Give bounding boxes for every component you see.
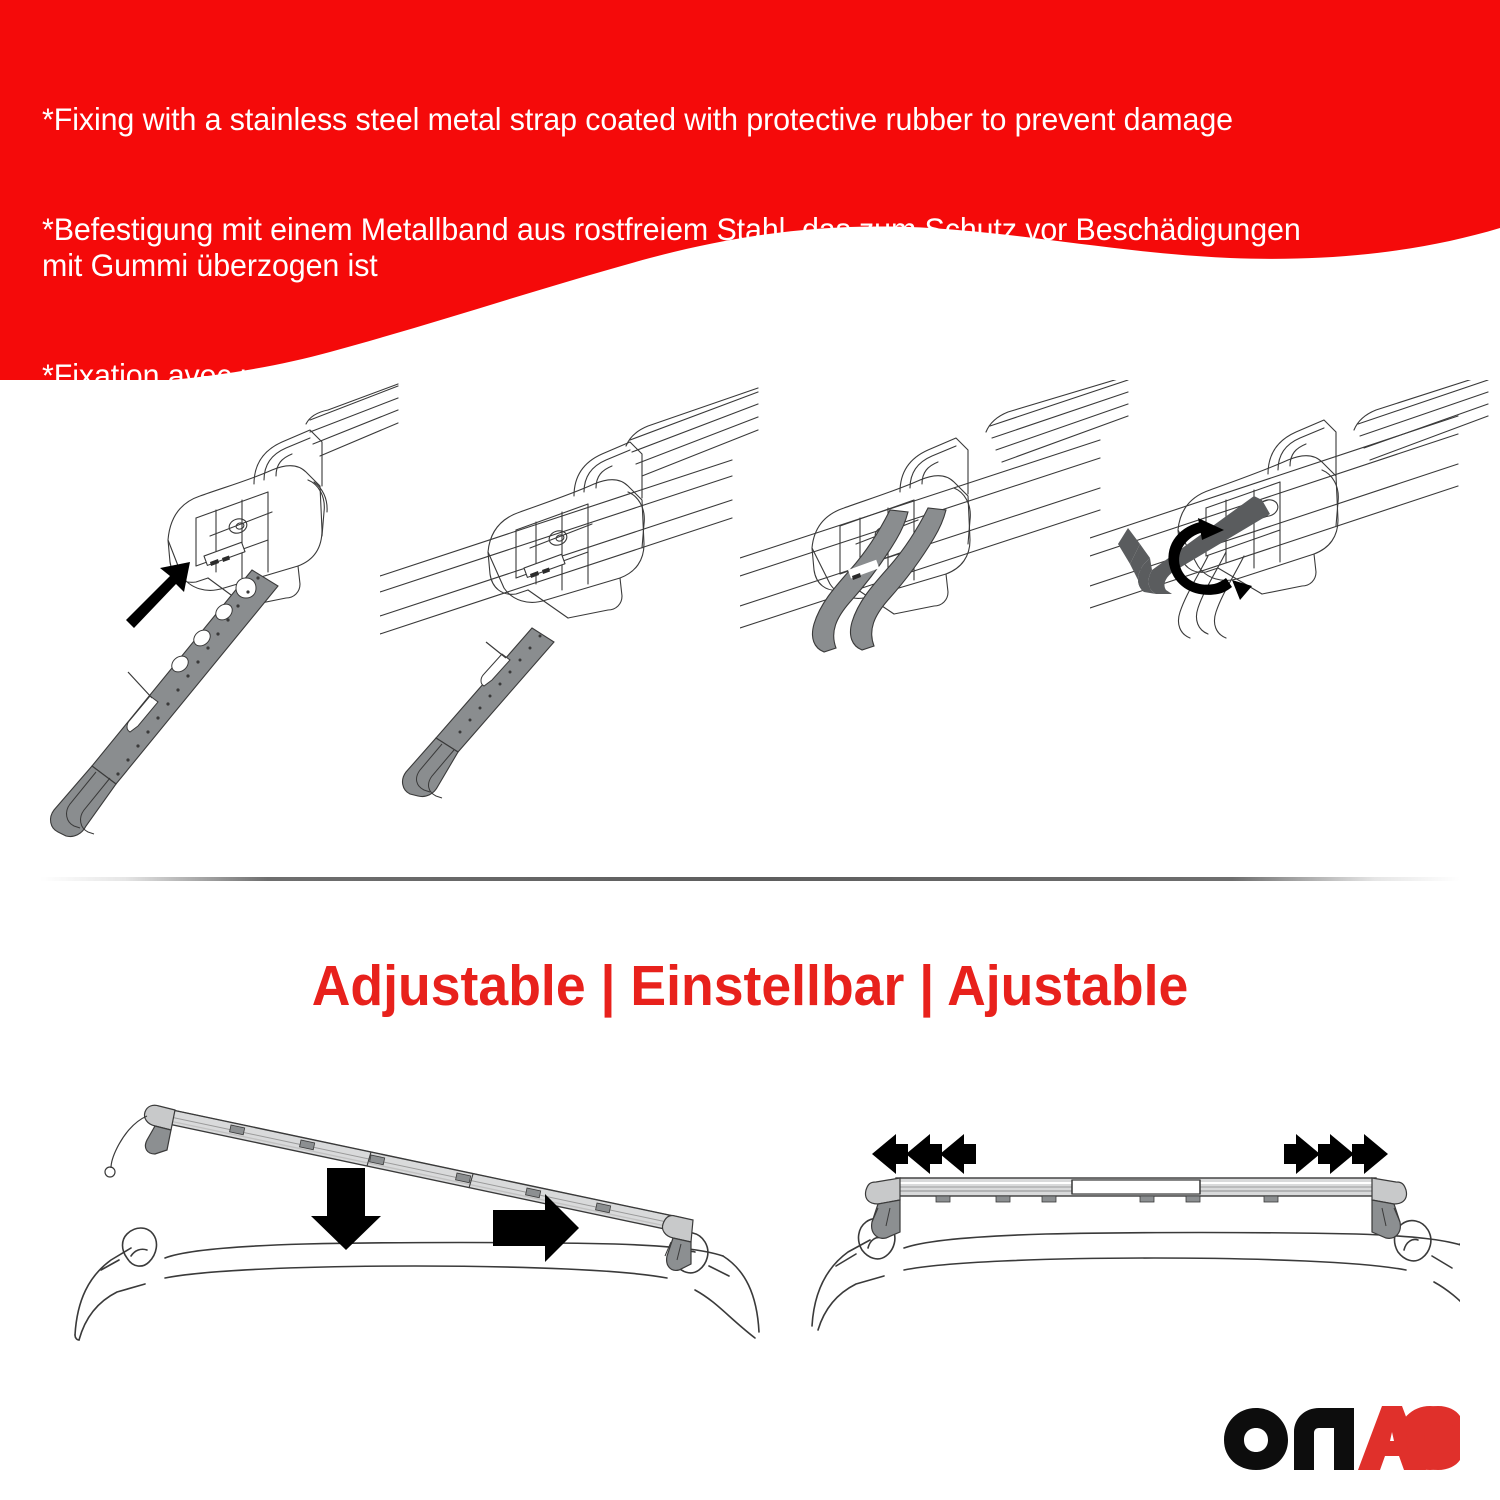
roof-rail-and-foot-3 bbox=[740, 380, 1128, 628]
crossbar-straight bbox=[866, 1178, 1407, 1238]
triple-arrow-right-icon bbox=[1284, 1134, 1388, 1174]
logo-letter-c bbox=[1398, 1406, 1460, 1470]
crossbar-placement-diagram bbox=[55, 1080, 775, 1380]
omac-logo bbox=[1222, 1398, 1460, 1470]
metal-strap-2 bbox=[403, 628, 554, 798]
arrow-down-icon bbox=[311, 1168, 381, 1250]
rack-foot-outline bbox=[168, 384, 398, 606]
header-line-en: *Fixing with a stainless steel metal str… bbox=[42, 101, 1412, 138]
crossbar-tilted bbox=[105, 1105, 693, 1270]
arrow-up-right-icon bbox=[126, 562, 190, 628]
logo-letter-m bbox=[1294, 1408, 1354, 1470]
section-divider bbox=[40, 877, 1460, 881]
crossbar-width-adjust-diagram bbox=[800, 1130, 1460, 1380]
allen-key-icon bbox=[1118, 496, 1270, 594]
car-roof-outline-2 bbox=[812, 1219, 1460, 1330]
adjustable-heading: Adjustable | Einstellbar | Ajustable bbox=[45, 955, 1455, 1017]
triple-arrow-left-icon bbox=[872, 1134, 976, 1174]
header-banner: *Fixing with a stainless steel metal str… bbox=[0, 0, 1500, 380]
installation-steps-row bbox=[0, 380, 1500, 850]
step-3-strap-wrapped bbox=[740, 380, 1130, 850]
logo-letter-o bbox=[1224, 1408, 1288, 1470]
step-2-strap-behind-rail bbox=[380, 380, 760, 850]
roof-rail-and-foot-4 bbox=[1090, 380, 1488, 638]
car-roof-outline bbox=[75, 1228, 759, 1340]
header-line-de: *Befestigung mit einem Metallband aus ro… bbox=[42, 211, 1412, 284]
roof-rail-and-foot bbox=[380, 388, 758, 634]
metal-strap bbox=[51, 570, 278, 837]
step-4-tighten-bolt bbox=[1090, 380, 1490, 850]
step-1-insert-strap bbox=[10, 380, 400, 850]
